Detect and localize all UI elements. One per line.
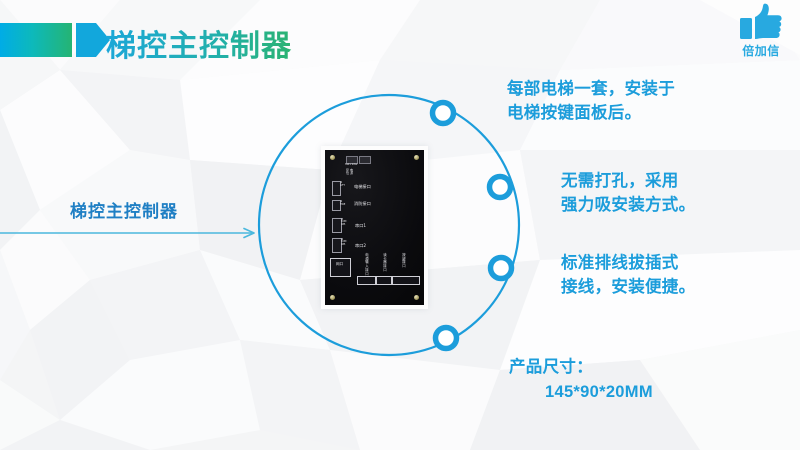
header-arrow-icon: [76, 23, 110, 57]
brand-name: 倍加信: [730, 42, 792, 59]
pcb-silk-label-5: 网口: [336, 263, 343, 267]
pcb-silk: J1LIFT: [340, 182, 345, 187]
pcb-silk-label-7: 读卡器接口: [383, 254, 387, 273]
pcb-silk-label-4: 串口2: [355, 244, 366, 248]
pcb-silk-label-1: 电梯接口: [354, 185, 371, 189]
dimension-value: 145*90*20MM: [509, 380, 653, 405]
left-callout-label: 梯控主控制器: [70, 197, 178, 222]
pcb-screw: [330, 295, 335, 300]
note-wiring: 标准排线拔插式 接线，安装便捷。: [561, 252, 695, 300]
product-image: SW1 SW2 复 电位 源 J1LIFT 电梯接口 J2FIRE 消防接口 J…: [321, 146, 428, 309]
dimension-label: 产品尺寸：: [509, 358, 593, 376]
brand-logo: 倍加信: [730, 3, 792, 59]
pcb-terminal-1: [357, 276, 376, 285]
pcb-ethernet-jack: [330, 258, 351, 277]
pcb-screw: [414, 155, 419, 160]
diagram-node-1: [430, 100, 456, 126]
pcb-terminal-2: [376, 276, 392, 285]
slide-canvas: 梯控主控制器 倍加信 梯控主控制器: [0, 0, 800, 450]
pcb-silk-label-6: 电源输入接口: [365, 254, 369, 276]
pcb-silk: J3COM485: [341, 219, 346, 226]
pcb-header-top-2: [359, 156, 371, 164]
header-accent-bar: [0, 23, 72, 57]
pcb-silk: SW1 SW2: [345, 164, 358, 167]
note-dimension: 产品尺寸： 145*90*20MM: [509, 330, 653, 429]
pcb-silk: 复 电位 源: [346, 169, 353, 175]
pcb-screw: [414, 295, 419, 300]
note-mount: 无需打孔，采用 强力吸安装方式。: [561, 170, 695, 218]
pcb-silk-label-8: 按键接口: [402, 254, 406, 269]
left-callout-arrow-icon: [0, 222, 262, 244]
diagram-node-4: [433, 325, 459, 351]
pcb-board: SW1 SW2 复 电位 源 J1LIFT 电梯接口 J2FIRE 消防接口 J…: [325, 150, 424, 305]
pcb-silk-label-2: 消防接口: [354, 202, 371, 206]
pcb-silk: J4COM485: [341, 239, 346, 246]
note-install: 每部电梯一套，安装于 电梯按键面板后。: [507, 78, 675, 126]
pcb-silk-label-3: 串口1: [355, 224, 366, 228]
diagram-node-2: [487, 174, 513, 200]
thumbs-up-icon: [738, 3, 784, 41]
page-title: 梯控主控制器: [106, 21, 292, 65]
diagram-node-3: [488, 255, 514, 281]
pcb-screw: [330, 155, 335, 160]
pcb-silk: J2FIRE: [340, 201, 345, 206]
pcb-terminal-3: [392, 276, 420, 285]
